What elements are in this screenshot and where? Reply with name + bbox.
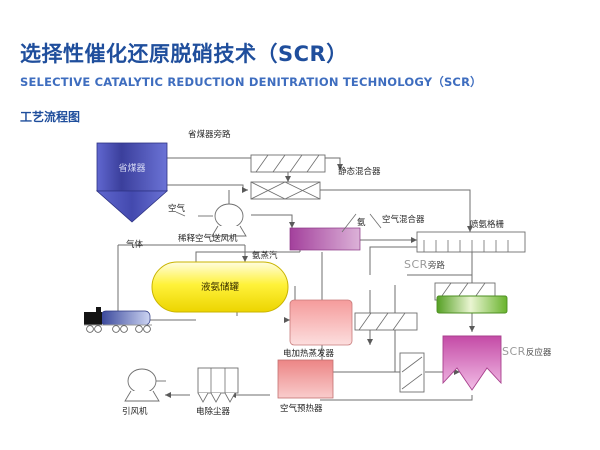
label-scr-reactor-suffix: 反应器 [526,348,552,358]
induced-draft-fan [125,369,166,401]
damper-vertical [400,353,424,392]
pipe-mixer-to-grid [320,190,470,232]
label-dilution-air-blower: 稀释空气送风机 [178,232,238,244]
tank-label: 液氨储罐 [201,281,240,293]
economizer-label: 省煤器 [118,162,145,174]
label-ammonia-injection-grid: 喷氨格栅 [470,218,504,230]
label-electric-evaporator: 电加热蒸发器 [283,347,334,359]
economizer: 省煤器 [97,143,167,222]
label-air: 空气 [168,202,185,214]
label-scr-bypass: SCR旁路 [404,258,445,271]
label-economizer-bypass: 省煤器旁路 [188,128,231,140]
label-ammonia-vapor: 氨蒸汽 [252,249,278,261]
liquid-ammonia-tank: 液氨储罐 [152,262,288,312]
process-flow-diagram: 省煤器 液氨储罐 [0,0,600,450]
label-static-mixer: 静态混合器 [338,165,381,177]
scr-reactor [443,336,501,390]
label-ammonia: 氨 [357,216,366,228]
label-scr-bypass-prefix: SCR [404,258,428,271]
label-induced-draft-fan: 引风机 [122,405,148,417]
electric-heating-evaporator [290,300,352,345]
static-mixer [251,182,320,199]
label-ammonia-air-mixer: 空气混合器 [382,213,425,225]
ammonia-injection-grid [417,232,525,252]
catalyst-layer [437,296,507,313]
label-gas: 气体 [126,238,143,250]
air-preheater [278,360,333,398]
label-scr-reactor: SCR反应器 [502,345,551,358]
damper-hatched-upper [251,155,325,172]
label-scr-bypass-suffix: 旁路 [428,261,445,271]
ammonia-tanker-truck [84,307,152,332]
pipe-economizer-outlet [167,185,243,190]
pipe-air-to-ammoniamixer [251,215,292,228]
ammonia-air-mixer [290,228,360,250]
pipe-reactor-out [350,395,472,400]
label-scr-reactor-prefix: SCR [502,345,526,358]
pipe-vapor-top [196,252,300,262]
electrostatic-precipitator [198,368,238,402]
label-air-preheater: 空气预热器 [280,402,323,414]
label-precipitator: 电除尘器 [196,405,230,417]
damper-horizontal-lower [355,313,417,330]
